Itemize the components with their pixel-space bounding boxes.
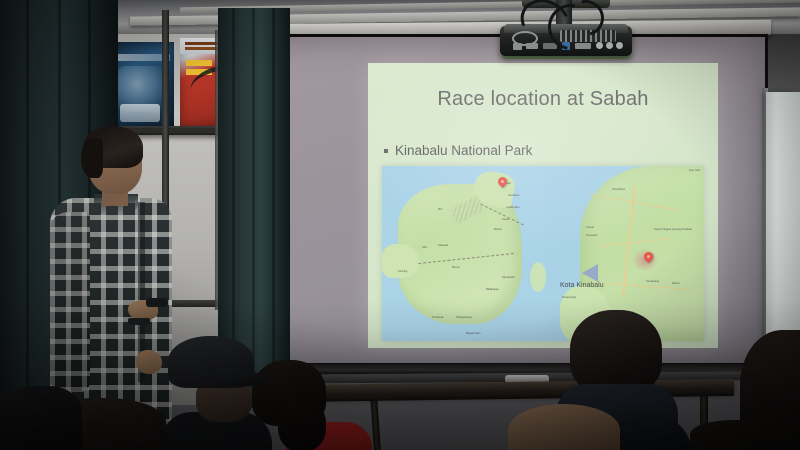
map-label-tawau: Tawau	[502, 218, 510, 221]
map-label-penampang: Penampang	[562, 296, 576, 299]
map-label-kota-kinabalu: Kota Kinabalu	[560, 282, 604, 289]
audience-ponytail	[278, 402, 326, 450]
map-label-balikpapan: Balikpapan	[486, 288, 499, 291]
map-attribution: Map data	[689, 169, 700, 172]
presenter-wristwatch	[128, 318, 150, 325]
map-label-miri: Miri	[438, 208, 442, 211]
map-label-tuaran: Tuaran	[586, 226, 594, 229]
red-box-badge-one	[186, 60, 212, 66]
map-label-tamparuli: Tamparuli	[586, 234, 597, 237]
audience-member-left	[0, 386, 82, 450]
slide-bullet-item: Kinabalu National Park	[384, 143, 532, 158]
slide-bullet-text: Kinabalu National Park	[395, 143, 532, 158]
map-label-sarawak: Sarawak	[438, 244, 448, 247]
presenter-lower-hand	[136, 350, 162, 374]
map-label-banjarmasin: Banjarmasin	[466, 332, 480, 335]
map-label-bintulu: Bintulu	[494, 228, 502, 231]
projector-rca-video-jack	[596, 42, 603, 49]
map-label-kuching: Kuching	[398, 270, 407, 273]
audience-member-front	[508, 404, 620, 450]
borneo-overview-map: Kudat Sandakan Lahad Datu Tawau Miri Bin…	[382, 166, 546, 341]
map-label-sibu: Sibu	[422, 246, 427, 249]
projector-port-two	[526, 43, 538, 49]
presenter-hair-side	[81, 138, 103, 178]
sulawesi-edge	[530, 262, 546, 292]
blue-box-product-image	[120, 104, 160, 122]
map-label-brunei: Brunei	[452, 266, 460, 269]
projector-rca-audio-right-jack	[616, 42, 623, 49]
map-label-lahad-datu: Lahad Datu	[506, 206, 519, 209]
presentation-photo-scene: Race location at Sabah Kinabalu National…	[0, 0, 800, 450]
audience-head	[570, 310, 662, 394]
projector-usb-port	[513, 43, 522, 50]
map-label-samarinda: Samarinda	[502, 276, 515, 279]
map-label-pontianak: Pontianak	[432, 316, 444, 319]
audience-member-right-front	[690, 420, 800, 450]
map-label-palangkaraya: Palangkaraya	[456, 316, 472, 319]
presentation-remote	[146, 298, 168, 307]
map-label-gunung-kinabalu-park: Taman Negara Gunung Kinabalu	[654, 228, 692, 231]
map-label-kundasang: Kundasang	[646, 280, 659, 283]
projector-rca-audio-left-jack	[606, 42, 613, 49]
location-arrow-icon	[582, 264, 598, 282]
map-label-kota-belud: Kota Belud	[612, 188, 625, 191]
map-label-sandakan: Sandakan	[508, 194, 520, 197]
slide-title: Race location at Sabah	[368, 88, 718, 111]
presenter-arm	[50, 212, 90, 392]
square-bullet-icon	[384, 149, 388, 153]
map-label-ranau: Ranau	[672, 282, 680, 285]
audience-member-cap	[160, 336, 268, 450]
slide: Race location at Sabah Kinabalu National…	[368, 63, 718, 348]
